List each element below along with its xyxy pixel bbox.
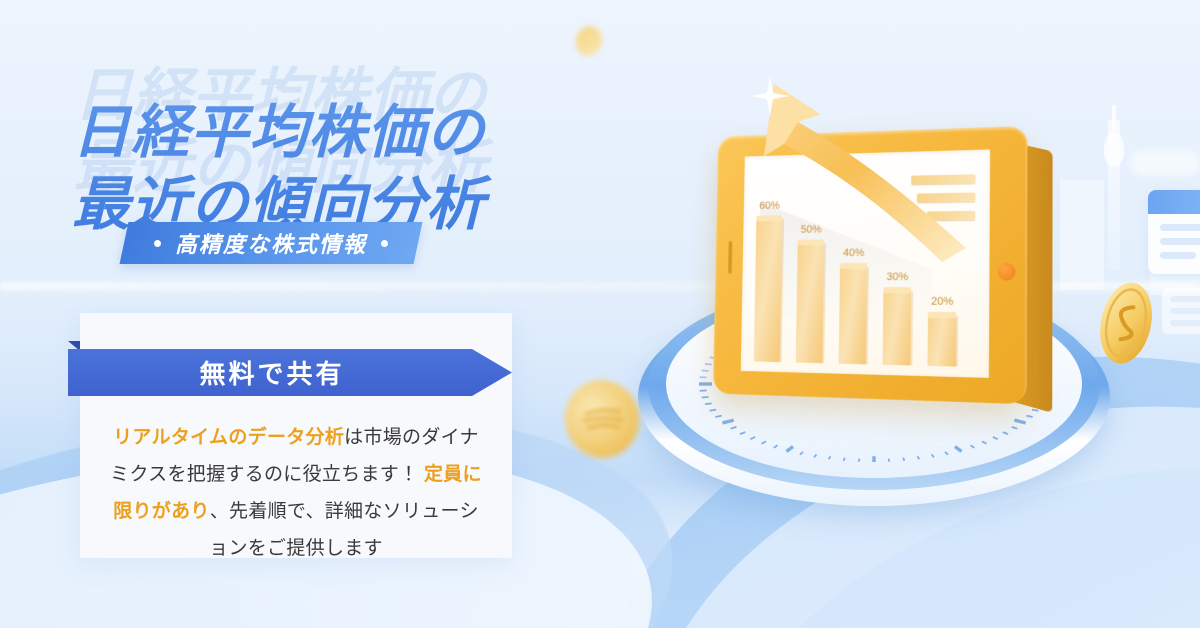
subtitle-text: 高精度な株式情報 — [175, 227, 367, 259]
chart-bar — [839, 267, 867, 364]
card-body-text: リアルタイムのデータ分析は市場のダイナミクスを把握するのに役立ちます！ 定員に限… — [106, 419, 486, 567]
chart-bar-cap — [756, 215, 782, 221]
coin-icon — [1090, 275, 1163, 371]
chart-bar — [754, 219, 782, 362]
coin-icon — [572, 22, 607, 59]
tablet-speaker-icon — [728, 241, 732, 274]
dot-bullet-icon — [154, 240, 161, 247]
chart-bar-label: 30% — [878, 271, 918, 283]
coin-currency-icon — [582, 408, 624, 432]
chart-bar-cap — [840, 263, 867, 269]
chart-legend-bar — [911, 174, 975, 184]
ribbon-banner: 無料で共有 — [68, 341, 512, 389]
chart-bar — [883, 291, 912, 365]
chart-bar-cap — [798, 239, 825, 245]
sparkle-icon — [750, 76, 790, 116]
chart-bar-label: 20% — [922, 295, 963, 308]
ribbon-body: 無料で共有 — [68, 349, 512, 396]
chart-bar — [927, 316, 956, 367]
tablet-body: 60%50%40%30%20% — [713, 126, 1028, 404]
dot-bullet-icon — [381, 240, 388, 247]
chart-legend-bar — [927, 211, 976, 221]
page-title: 日経平均株価の 最近の傾向分析 — [72, 97, 592, 241]
illustration: 60%50%40%30%20% — [560, 30, 1200, 590]
bar-chart: 60%50%40%30%20% — [741, 149, 990, 377]
chart-legend-bar — [917, 192, 976, 202]
chart-bar-cap — [928, 312, 956, 318]
subtitle-badge: 高精度な株式情報 — [120, 222, 423, 264]
promo-banner: 日経平均株価の 最近の傾向分析 日経平均株価の 最近の傾向分析 高精度な株式情報… — [0, 0, 1200, 628]
chart-bar-cap — [883, 287, 911, 293]
chart-bars: 60%50%40%30%20% — [754, 182, 978, 367]
tablet-device: 60%50%40%30%20% — [713, 125, 1038, 406]
ribbon-label: 無料で共有 — [199, 354, 344, 391]
card-body-highlight: リアルタイムのデータ分析 — [113, 427, 344, 448]
chart-bar-label: 60% — [751, 200, 788, 212]
chart-bar-label: 50% — [792, 224, 830, 236]
card-body-plain: 、先着順で、詳細なソリューションをご提供します — [209, 501, 479, 559]
chart-legend — [911, 174, 976, 230]
chart-bar — [796, 243, 824, 363]
chart-bar-label: 40% — [834, 247, 873, 259]
